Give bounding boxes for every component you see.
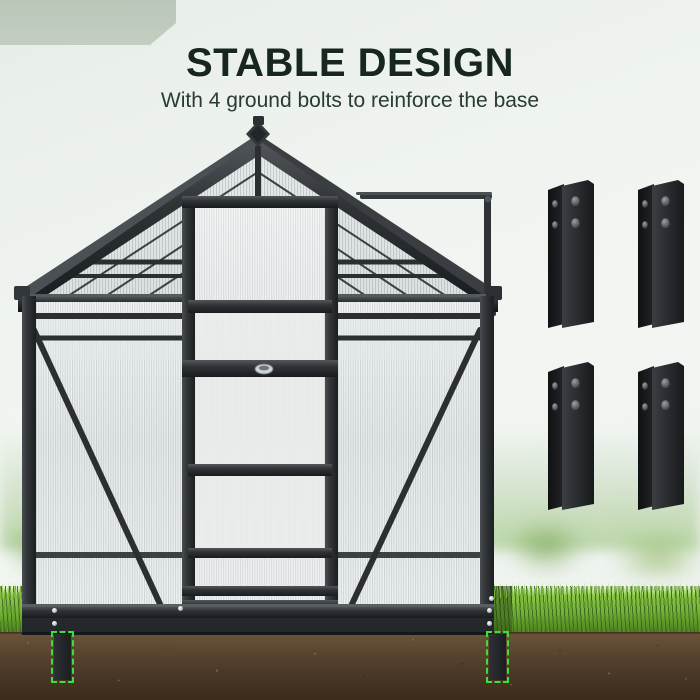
door-frame-top [182,196,338,208]
door-rail-upper [188,300,332,313]
door-kick-rail [182,586,338,596]
base-screw [487,621,492,626]
bolt-hole [661,196,670,207]
buried-bolt-right [489,634,506,680]
bolt-hole [642,382,648,390]
bolt-hole [571,218,580,229]
door-rail-lower [188,464,332,476]
corner-post-left [22,296,36,612]
buried-bolt-left [54,634,71,680]
wall-right [336,302,490,610]
bolt-hole [571,400,580,411]
base-screw [489,596,494,601]
ground-bolt-1 [548,180,594,328]
corner-post-right [480,296,494,612]
ground-bolt-2 [638,180,684,328]
bolt-hole [642,403,648,411]
ground-bolt-4 [638,362,684,510]
bolt-hole [552,221,558,229]
product-marketing-image: STABLE DESIGN With 4 ground bolts to rei… [0,0,700,700]
bolt-hole [661,400,670,411]
wall-left [26,302,182,610]
bolt-hole [571,196,580,207]
base-screw [178,606,183,611]
door-assembly[interactable] [182,196,338,612]
door-rail-base [188,548,332,558]
bolt-hole [571,378,580,389]
bolt-hole [642,200,648,208]
bolt-hole [552,382,558,390]
base-screw [487,608,492,613]
bolt-hole [661,378,670,389]
ground-bolt-3 [548,362,594,510]
bolt-hole [642,221,648,229]
ground-bolt-showcase [540,172,690,517]
bolt-hole [552,200,558,208]
base-screw [52,608,57,613]
bolt-hole [552,403,558,411]
base-rail [22,604,494,635]
base-screw [52,621,57,626]
bolt-hole [661,218,670,229]
